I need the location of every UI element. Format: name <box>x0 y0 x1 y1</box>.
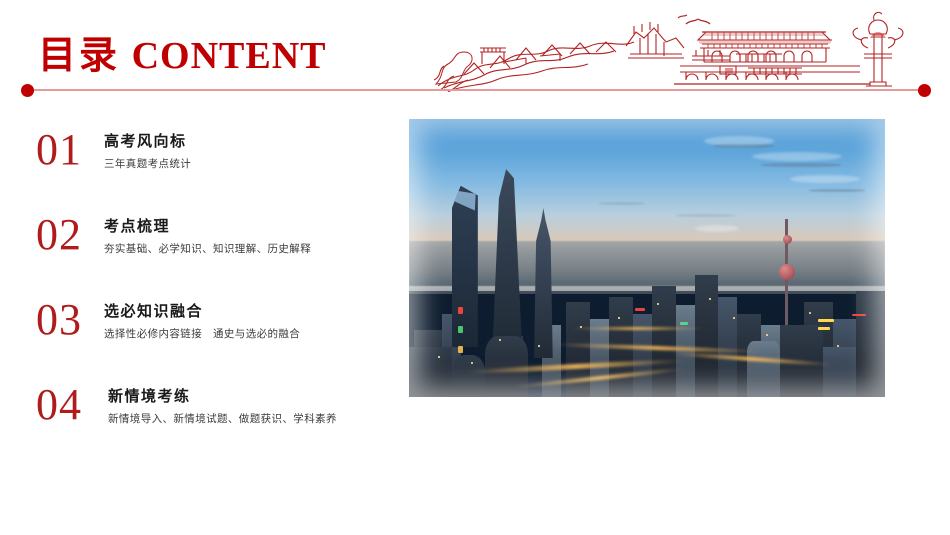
toc-number: 04 <box>36 383 82 427</box>
toc-heading: 选必知识融合 <box>104 302 300 322</box>
skyline-photo-frame <box>403 113 891 403</box>
page-title: 目录 CONTENT <box>38 36 327 75</box>
divider-dot-right-icon <box>918 84 931 97</box>
slide-canvas: 目录 CONTENT <box>0 0 950 535</box>
chinese-landmark-line-art-icon <box>430 4 930 92</box>
toc-item-04[interactable]: 04 新情境考练 新情境导入、新情境试题、做题获识、学科素养 <box>0 375 390 460</box>
toc-subtitle: 三年真题考点统计 <box>104 158 191 172</box>
page-title-cn: 目录 <box>38 33 120 77</box>
toc-item-01[interactable]: 01 高考风向标 三年真题考点统计 <box>0 120 390 205</box>
toc-heading: 高考风向标 <box>104 132 191 152</box>
toc-heading: 新情境考练 <box>108 387 337 407</box>
world-financial-center-tower <box>452 186 478 347</box>
toc-number: 01 <box>36 128 82 172</box>
divider-dot-left-icon <box>21 84 34 97</box>
toc-text-block: 考点梳理 夯实基础、必学知识、知识理解、历史解释 <box>104 217 311 256</box>
toc-subtitle: 新情境导入、新情境试题、做题获识、学科素养 <box>108 413 337 427</box>
toc-text-block: 新情境考练 新情境导入、新情境试题、做题获识、学科素养 <box>108 387 337 426</box>
toc-item-02[interactable]: 02 考点梳理 夯实基础、必学知识、知识理解、历史解释 <box>0 205 390 290</box>
toc-heading: 考点梳理 <box>104 217 311 237</box>
toc-number: 02 <box>36 213 82 257</box>
toc-text-block: 高考风向标 三年真题考点统计 <box>104 132 191 171</box>
header-divider-line <box>27 89 927 91</box>
shanghai-pudong-skyline-photo <box>409 119 885 397</box>
page-title-en: CONTENT <box>132 35 327 77</box>
toc-item-03[interactable]: 03 选必知识融合 选择性必修内容链接 通史与选必的融合 <box>0 290 390 375</box>
table-of-contents-list: 01 高考风向标 三年真题考点统计 02 考点梳理 夯实基础、必学知识、知识理解… <box>0 120 390 460</box>
toc-text-block: 选必知识融合 选择性必修内容链接 通史与选必的融合 <box>104 302 300 341</box>
toc-subtitle: 选择性必修内容链接 通史与选必的融合 <box>104 328 300 342</box>
toc-subtitle: 夯实基础、必学知识、知识理解、历史解释 <box>104 243 311 257</box>
toc-number: 03 <box>36 298 82 342</box>
